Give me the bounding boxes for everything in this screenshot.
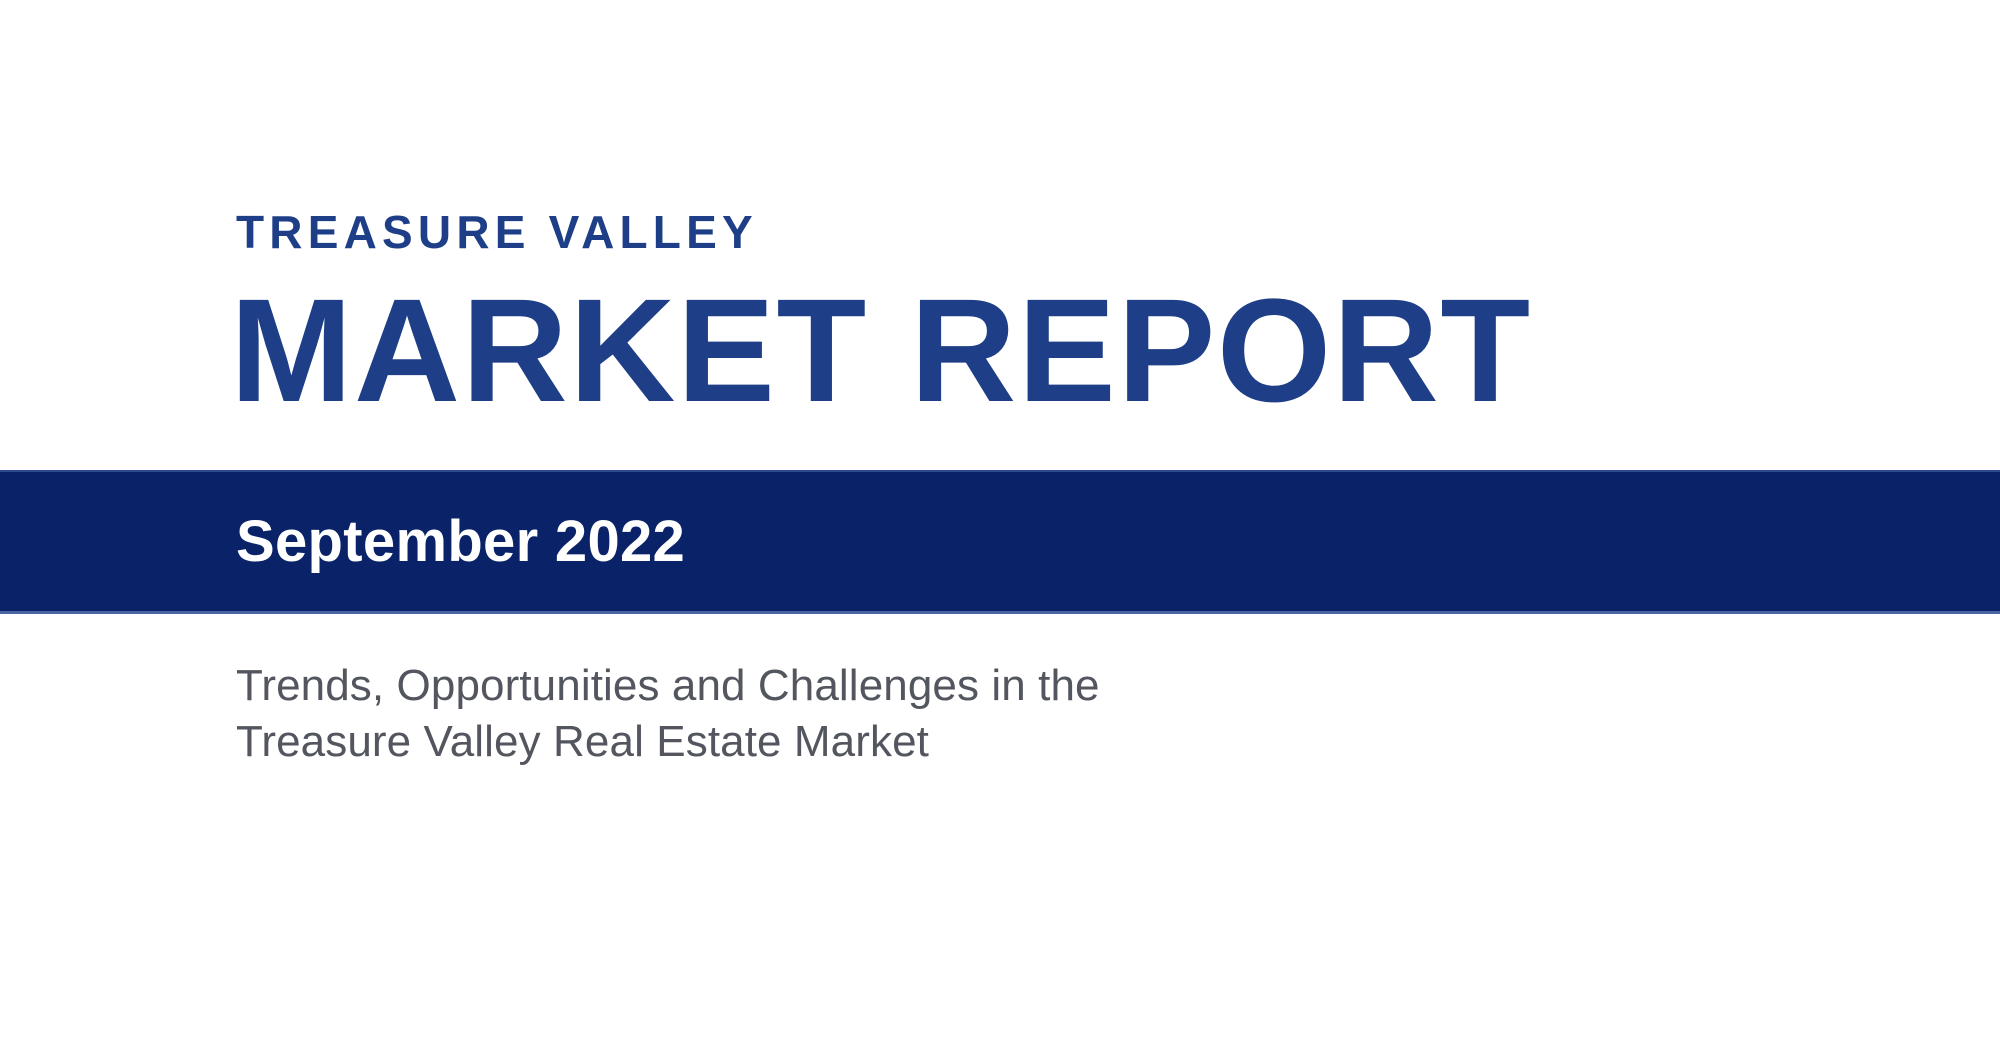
report-date-banner: September 2022 xyxy=(0,470,2000,614)
report-subtitle-line-2: Treasure Valley Real Estate Market xyxy=(236,714,1100,770)
report-date-label: September 2022 xyxy=(236,513,685,571)
report-eyebrow-title: TREASURE VALLEY xyxy=(236,205,758,259)
report-main-title: MARKET REPORT xyxy=(230,278,1532,425)
report-subtitle-line-1: Trends, Opportunities and Challenges in … xyxy=(236,658,1100,714)
report-cover-page: TREASURE VALLEY MARKET REPORT September … xyxy=(0,0,2000,1050)
report-subtitle: Trends, Opportunities and Challenges in … xyxy=(236,658,1100,770)
